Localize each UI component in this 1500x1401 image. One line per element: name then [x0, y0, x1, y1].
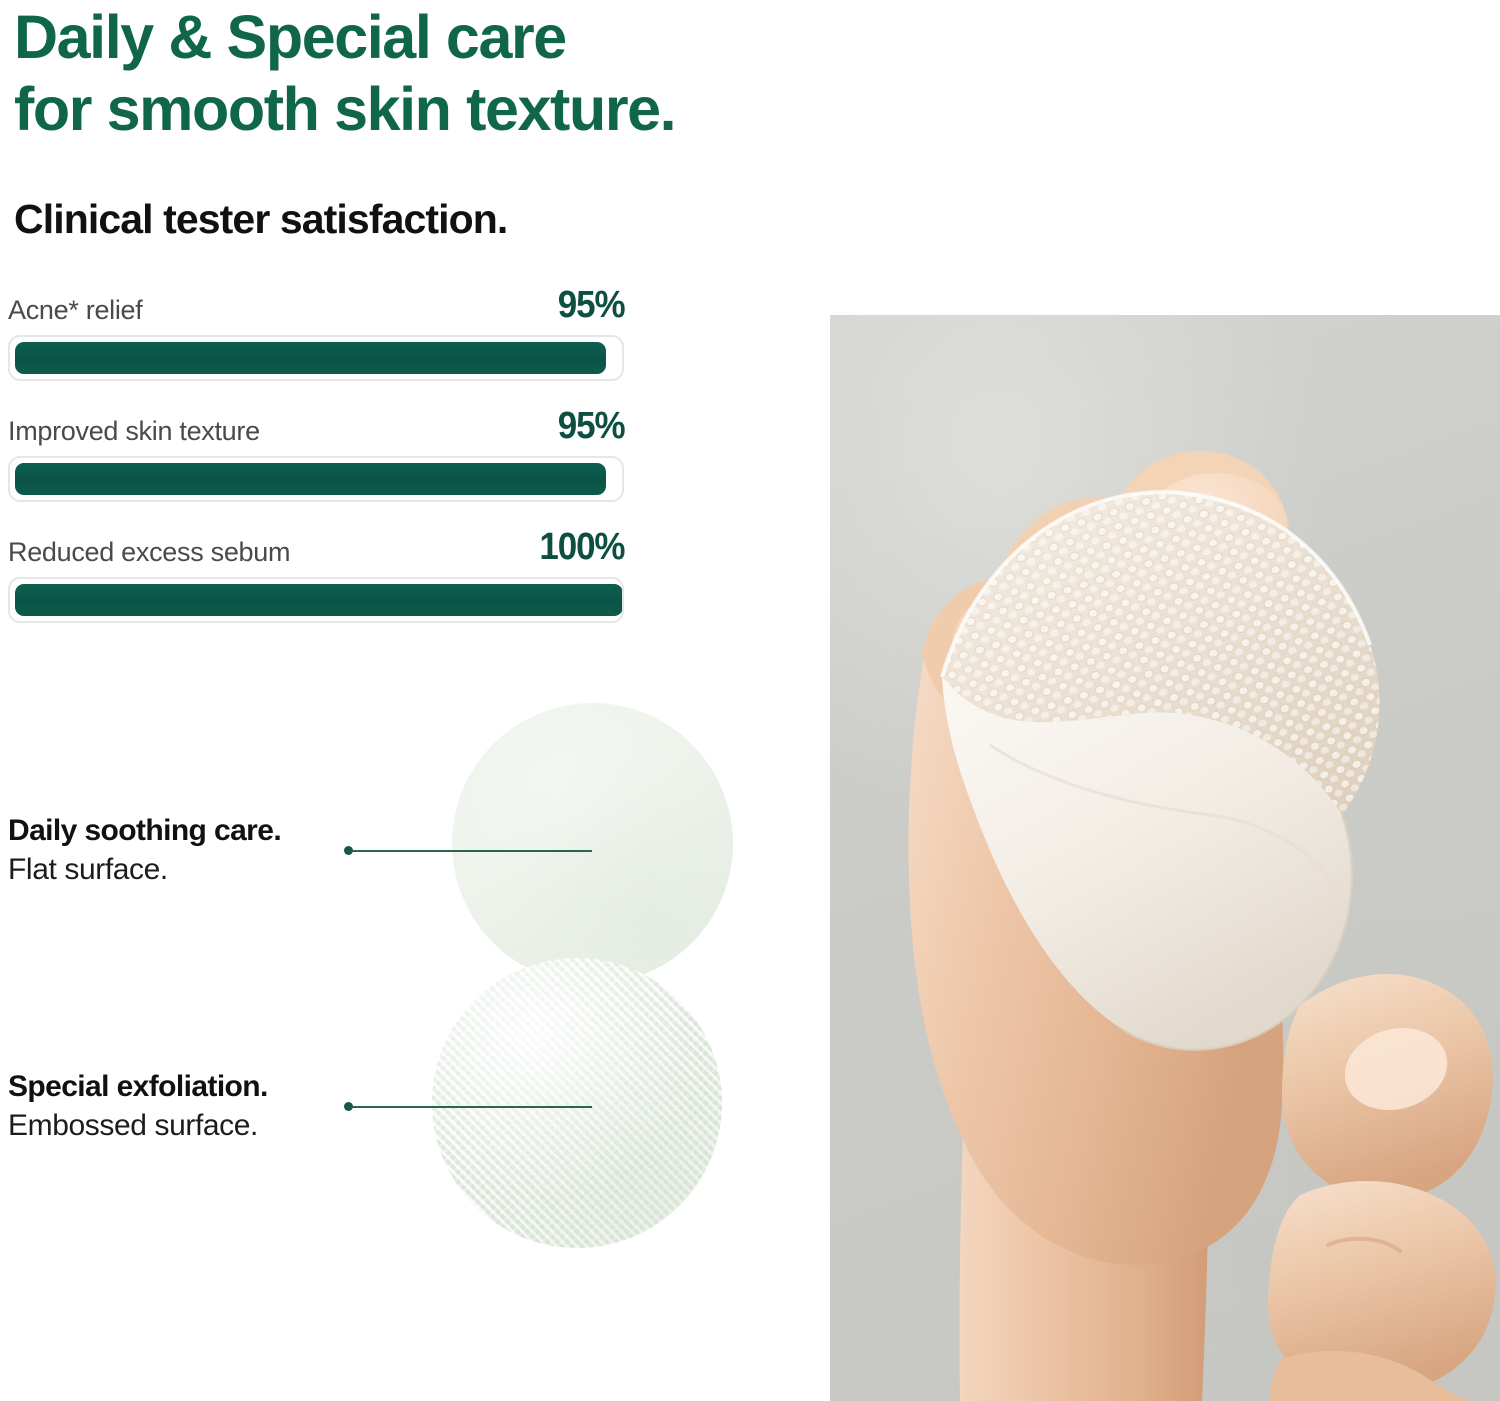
stat-value: 100%	[539, 528, 624, 566]
photo-illustration	[830, 315, 1500, 1401]
stat-row: Acne* relief 95%	[8, 284, 624, 381]
callout-title: Special exfoliation.	[8, 1068, 268, 1106]
leader-line-flat-pad	[344, 845, 592, 856]
hand-holding-cotton-pad-photo	[830, 315, 1500, 1401]
stat-value: 95%	[557, 407, 624, 445]
callout-subtitle: Embossed surface.	[8, 1106, 268, 1145]
clinical-satisfaction-chart: Acne* relief 95% Improved skin texture 9…	[8, 284, 624, 647]
headline-line-2: for smooth skin texture.	[14, 74, 874, 146]
flat-surface-pad	[452, 703, 733, 984]
progress-track	[8, 577, 624, 623]
stat-header: Improved skin texture 95%	[8, 405, 624, 445]
leader-line-stroke	[351, 1106, 592, 1108]
progress-track	[8, 335, 624, 381]
headline-line-1: Daily & Special care	[14, 2, 874, 74]
stat-header: Reduced excess sebum 100%	[8, 526, 624, 566]
progress-fill	[15, 342, 606, 374]
leader-line-embossed-pad	[344, 1101, 592, 1112]
stat-row: Improved skin texture 95%	[8, 405, 624, 502]
subheading: Clinical tester satisfaction.	[14, 196, 507, 243]
progress-fill	[15, 463, 606, 495]
stat-value: 95%	[557, 286, 624, 324]
callout-subtitle: Flat surface.	[8, 850, 281, 889]
stat-label: Reduced excess sebum	[8, 539, 290, 566]
leader-line-stroke	[351, 850, 592, 852]
headline: Daily & Special care for smooth skin tex…	[14, 2, 874, 146]
callout-special-exfoliation: Special exfoliation. Embossed surface.	[8, 1068, 268, 1145]
stat-label: Acne* relief	[8, 297, 142, 324]
stat-label: Improved skin texture	[8, 418, 260, 445]
progress-fill	[15, 584, 623, 616]
callout-title: Daily soothing care.	[8, 812, 281, 850]
callout-daily-soothing-care: Daily soothing care. Flat surface.	[8, 812, 281, 889]
stat-row: Reduced excess sebum 100%	[8, 526, 624, 623]
progress-track	[8, 456, 624, 502]
stat-header: Acne* relief 95%	[8, 284, 624, 324]
